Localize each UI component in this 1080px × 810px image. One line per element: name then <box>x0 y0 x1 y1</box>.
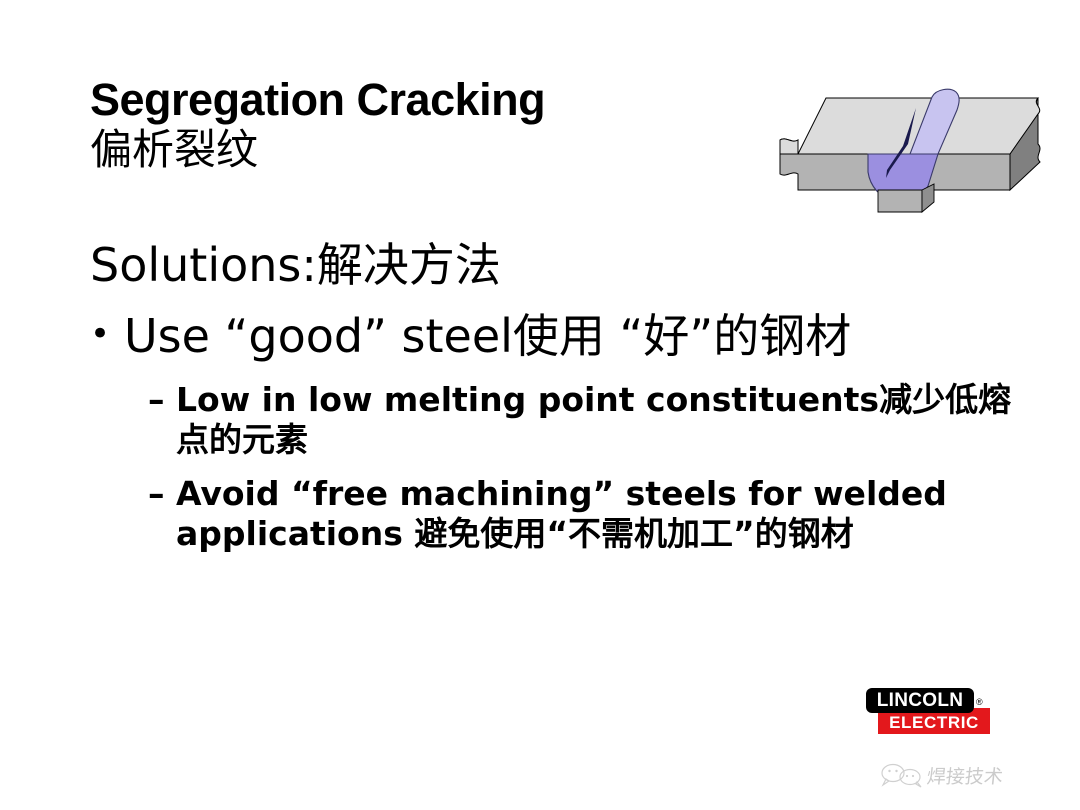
sub-bullet-list: – Low in low melting point constituents减… <box>148 380 1030 555</box>
logo-lincoln-text: LINCOLN <box>866 688 974 713</box>
slide-title-block: Segregation Cracking 偏析裂纹 <box>90 76 750 173</box>
solutions-heading: Solutions:解决方法 <box>90 238 1030 292</box>
watermark-text: 焊接技术 <box>926 762 1005 789</box>
sub-bullet-item-low-melting-point: – Low in low melting point constituents减… <box>148 380 1030 461</box>
page-title-chinese: 偏析裂纹 <box>90 126 750 173</box>
bullet-marker-dash: – <box>148 474 176 514</box>
bullet-marker-dot: • <box>90 310 124 359</box>
lincoln-electric-logo: ELECTRIC LINCOLN ® <box>866 688 990 742</box>
bullet-marker-dash: – <box>148 380 176 420</box>
weld-cracking-illustration <box>762 62 1062 227</box>
watermark: 焊接技术 <box>880 758 1030 792</box>
bullet-item-level1: • Use “good” steel使用 “好”的钢材 <box>90 310 1030 363</box>
weld-backing-bar <box>878 190 922 212</box>
sub-bullet-text-low-melting-point: Low in low melting point constituents减少低… <box>176 380 1030 461</box>
bullet-text-use-good-steel: Use “good” steel使用 “好”的钢材 <box>124 310 1030 363</box>
sub-bullet-item-free-machining: – Avoid “free machining” steels for weld… <box>148 474 1030 555</box>
slide-body: Solutions:解决方法 • Use “good” steel使用 “好”的… <box>90 238 1030 569</box>
registered-trademark-icon: ® <box>976 697 983 707</box>
sub-bullet-text-free-machining: Avoid “free machining” steels for welded… <box>176 474 1030 555</box>
page-title-english: Segregation Cracking <box>90 76 750 124</box>
wechat-bubbles-icon <box>880 762 924 788</box>
slide-canvas: Segregation Cracking 偏析裂纹 Solutions:解决方法… <box>0 0 1080 810</box>
